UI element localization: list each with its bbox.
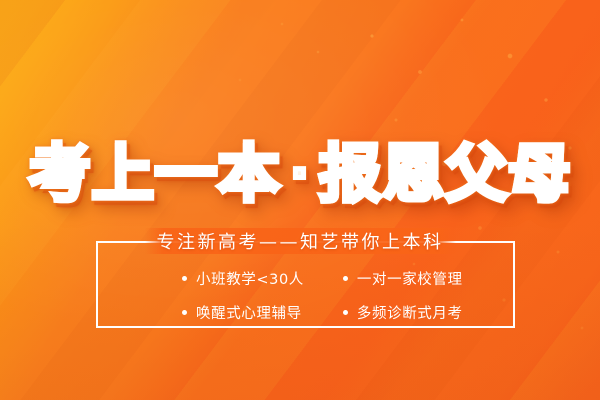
bullet-dot-icon <box>182 310 187 315</box>
background-gradient <box>0 0 600 400</box>
list-item: 小班教学<30人 <box>96 262 304 294</box>
list-item: 一对一家校管理 <box>310 262 515 294</box>
feature-label: 多频诊断式月考 <box>357 302 463 323</box>
list-item: 多频诊断式月考 <box>310 296 515 328</box>
bullet-dot-icon <box>343 276 348 281</box>
feature-list: 小班教学<30人 一对一家校管理 唤醒式心理辅导 多频诊断式月考 <box>96 256 515 328</box>
bullet-dot-icon <box>343 310 348 315</box>
list-item: 唤醒式心理辅导 <box>96 296 304 328</box>
feature-label: 小班教学<30人 <box>196 268 304 289</box>
bullet-dot-icon <box>182 276 187 281</box>
feature-label: 一对一家校管理 <box>357 268 463 289</box>
promo-banner: 考上一本·报恩父母 专注新高考——知艺带你上本科 小班教学<30人 一对一家校管… <box>0 0 600 400</box>
feature-label: 唤醒式心理辅导 <box>196 302 302 323</box>
